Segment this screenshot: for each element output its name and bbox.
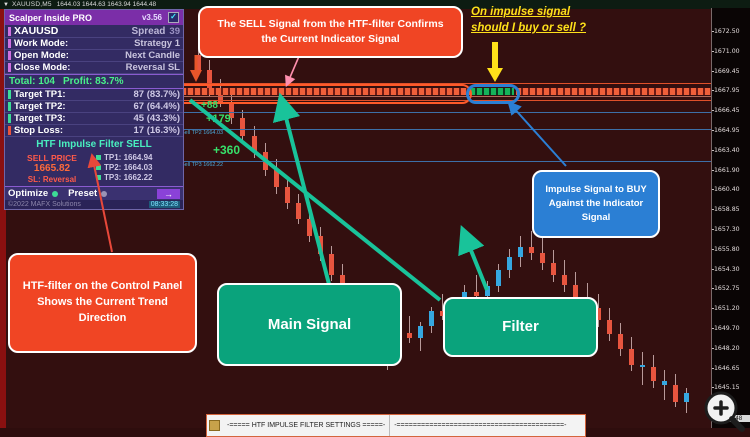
panel-row-tp1: Target TP1: 87 (83.7%): [5, 89, 183, 101]
candle-body: [485, 286, 490, 296]
profit-label-1: +88: [201, 100, 218, 111]
price-axis-tick: 1672.50: [714, 28, 740, 35]
callout-htf-filter-panel: HTF-filter on the Control Panel Shows th…: [8, 253, 197, 353]
price-axis-tick: 1651.20: [714, 305, 740, 312]
tp-list-item: TP1: 1664.94: [96, 153, 180, 163]
status-bar-red: [8, 126, 11, 135]
candle-body: [640, 365, 645, 368]
panel-symbol: XAUUSD: [14, 25, 58, 37]
candle-body: [274, 170, 279, 187]
question-line-1: On impulse signal: [471, 4, 586, 20]
callout-blue-text: Impulse Signal to BUY Against the Indica…: [542, 183, 650, 224]
candle-body: [662, 381, 667, 385]
candle-body: [529, 247, 534, 253]
tp3-label: Target TP3:: [14, 113, 66, 124]
price-side-label: SELL PRICE: [27, 153, 77, 163]
status-bar-green: [8, 114, 11, 123]
candle-body: [607, 320, 612, 334]
scalper-control-panel[interactable]: Scalper Inside PRO v3.56 ✓ XAUUSD Spread…: [4, 9, 184, 210]
panel-row-work-mode: Work Mode: Strategy 1: [5, 38, 183, 50]
panel-title: Scalper Inside PRO: [9, 13, 92, 23]
optimize-status-dot-icon: [52, 191, 58, 197]
candle-body: [407, 333, 412, 339]
panel-row-close-mode: Close Mode: Reversal SL: [5, 62, 183, 74]
panel-header: Scalper Inside PRO v3.56 ✓: [5, 10, 183, 25]
tp3-row-value: 1662.22: [124, 173, 153, 182]
tp1-label: Target TP1:: [14, 89, 66, 100]
panel-spread-value: 39: [169, 26, 180, 37]
panel-symbol-row: XAUUSD Spread 39: [5, 25, 183, 38]
htf-impulse-filter-status: HTF Impulse Filter SELL: [5, 137, 183, 152]
candle-body: [551, 263, 556, 275]
candle-body: [540, 253, 545, 263]
candle-body: [496, 270, 501, 287]
price-axis-tick: 1648.20: [714, 345, 740, 352]
tp-marker-icon: [96, 175, 101, 180]
main-signal-text: Main Signal: [268, 314, 351, 336]
open-mode-label: Open Mode:: [14, 50, 69, 61]
candle-body: [629, 349, 634, 364]
stoploss-value: 17 (16.3%): [134, 125, 180, 136]
preset-button[interactable]: Preset: [68, 188, 97, 199]
filter-text: Filter: [502, 316, 539, 338]
price-axis-tick: 1669.45: [714, 68, 740, 75]
price-axis[interactable]: 1672.501671.001669.451667.951666.451664.…: [711, 8, 750, 428]
candle-wick: [531, 231, 532, 260]
price-axis-tick: 1664.95: [714, 127, 740, 134]
price-axis-tick: 1658.85: [714, 206, 740, 213]
tp2-row-label: TP2:: [104, 163, 121, 172]
callout-filter: Filter: [443, 297, 598, 357]
candle-body: [684, 393, 689, 401]
close-mode-value: Reversal SL: [126, 62, 180, 73]
tp3-value: 45 (43.3%): [134, 113, 180, 124]
tp-marker-icon: [96, 155, 101, 160]
close-mode-label: Close Mode:: [14, 62, 70, 73]
panel-row-tp2: Target TP2: 67 (64.4%): [5, 101, 183, 113]
zoom-in-icon[interactable]: [702, 389, 746, 433]
tp-list-item: TP3: 1662.22: [96, 173, 180, 183]
candle-body: [429, 311, 434, 326]
sell-tp2-chart-label: Sell TP2 1664.03: [181, 130, 223, 136]
stoploss-label: Stop Loss:: [14, 125, 63, 136]
profit-label-3: +360: [213, 143, 240, 157]
total-label: Total: 104: [9, 76, 55, 87]
candle-body: [518, 247, 523, 257]
accent-bar: [8, 39, 11, 48]
price-axis-tick: 1649.70: [714, 325, 740, 332]
tp2-label: Target TP2:: [14, 101, 66, 112]
candle-body: [196, 55, 201, 70]
indicator-icon: [209, 420, 220, 431]
ohlc-values: 1644.03 1644.63 1643.94 1644.48: [57, 1, 156, 8]
impulse-signal-highlight-ellipse: [466, 84, 520, 104]
callout-top-sell-signal: The SELL Signal from the HTF-filter Conf…: [198, 6, 463, 58]
tp1-row-value: 1664.94: [124, 153, 153, 162]
chevron-down-icon[interactable]: ▼: [3, 1, 9, 9]
panel-actions-row[interactable]: Optimize Preset →: [5, 186, 183, 200]
candle-body: [651, 367, 656, 381]
tp2-row-value: 1664.03: [124, 163, 153, 172]
candle-body: [673, 385, 678, 402]
candle-body: [296, 203, 301, 218]
candle-body: [474, 292, 479, 296]
accent-bar: [8, 51, 11, 60]
profit-label: Profit: 83.7%: [63, 76, 124, 87]
work-mode-label: Work Mode:: [14, 38, 68, 49]
callout-impulse-buy: Impulse Signal to BUY Against the Indica…: [532, 170, 660, 238]
panel-row-open-mode: Open Mode: Next Candle: [5, 50, 183, 62]
open-mode-value: Next Candle: [125, 50, 180, 61]
price-value: 1665.82: [8, 163, 96, 174]
panel-price-left: SELL PRICE 1665.82 SL: Reversal: [8, 153, 96, 184]
candle-wick: [409, 316, 410, 342]
symbol-tab-label: XAUUSD,M5: [12, 1, 52, 8]
panel-footer: ©2022 MAFX Solutions 08:33:28: [5, 200, 183, 209]
panel-spread-label: Spread: [132, 26, 166, 37]
mt4-chart-window: ▼XAUUSD,M51644.03 1644.63 1643.94 1644.4…: [0, 0, 750, 437]
candle-body: [329, 254, 334, 275]
sell-tp3-chart-label: Sell TP3 1662.22: [181, 162, 223, 168]
copyright-label: ©2022 MAFX Solutions: [8, 201, 81, 208]
price-axis-tick: 1654.30: [714, 266, 740, 273]
panel-row-stoploss: Stop Loss: 17 (16.3%): [5, 125, 183, 137]
subwindow-title: -===== HTF IMPULSE FILTER SETTINGS =====…: [223, 422, 389, 429]
checkbox-checked-icon[interactable]: ✓: [168, 12, 179, 23]
candle-body: [618, 334, 623, 349]
sl-reversal-label: SL: Reversal: [28, 175, 76, 184]
htf-impulse-filter-settings-bar[interactable]: -===== HTF IMPULSE FILTER SETTINGS =====…: [206, 414, 586, 437]
candle-body: [285, 187, 290, 204]
price-axis-tick: 1666.45: [714, 107, 740, 114]
candle-body: [307, 219, 312, 237]
price-axis-tick: 1655.80: [714, 246, 740, 253]
tp-list-item: TP2: 1664.03: [96, 163, 180, 173]
panel-version: v3.56: [142, 13, 162, 22]
candle-body: [240, 118, 245, 136]
callout-top-text: The SELL Signal from the HTF-filter Conf…: [210, 17, 451, 47]
price-axis-tick: 1657.30: [714, 226, 740, 233]
price-axis-tick: 1652.75: [714, 285, 740, 292]
tp3-row-label: TP3:: [104, 173, 121, 182]
question-annotation: On impulse signal should I buy or sell ?: [471, 4, 586, 36]
price-axis-tick: 1663.40: [714, 147, 740, 154]
preset-status-dot-icon: [101, 191, 107, 197]
tp-marker-icon: [96, 165, 101, 170]
subwindow-dashes: -=======================================…: [390, 422, 570, 429]
price-axis-tick: 1661.90: [714, 167, 740, 174]
tp1-row-label: TP1:: [104, 153, 121, 162]
status-bar-green: [8, 90, 11, 99]
callout-main-signal: Main Signal: [217, 283, 402, 366]
work-mode-value: Strategy 1: [134, 38, 180, 49]
tp1-value: 87 (83.7%): [134, 89, 180, 100]
candle-body: [318, 236, 323, 254]
candle-body: [507, 257, 512, 269]
question-line-2: should I buy or sell ?: [471, 20, 586, 36]
price-axis-tick: 1646.65: [714, 365, 740, 372]
panel-tp-list: TP1: 1664.94 TP2: 1664.03 TP3: 1662.22: [96, 153, 180, 184]
callout-bottom-text: HTF-filter on the Control Panel Shows th…: [20, 279, 185, 327]
optimize-button[interactable]: Optimize: [8, 188, 48, 199]
panel-total-row: Total: 104 Profit: 83.7%: [5, 74, 183, 89]
tp2-value: 67 (64.4%): [134, 101, 180, 112]
candle-wick: [642, 352, 643, 385]
profit-label-2: +179: [206, 113, 231, 125]
next-preset-arrow-button[interactable]: →: [157, 189, 180, 199]
candle-body: [252, 136, 257, 153]
panel-price-box: SELL PRICE 1665.82 SL: Reversal TP1: 166…: [5, 152, 183, 186]
price-axis-tick: 1671.00: [714, 48, 740, 55]
panel-row-tp3: Target TP3: 45 (43.3%): [5, 113, 183, 125]
candle-body: [562, 275, 567, 285]
candle-body: [418, 326, 423, 338]
price-axis-tick: 1667.95: [714, 87, 740, 94]
htf-impulse-band-sell-right: [516, 88, 712, 95]
status-bar-green: [8, 102, 11, 111]
accent-bar: [8, 27, 11, 36]
accent-bar: [8, 63, 11, 72]
price-axis-tick: 1660.40: [714, 186, 740, 193]
server-clock: 08:33:28: [149, 201, 180, 208]
